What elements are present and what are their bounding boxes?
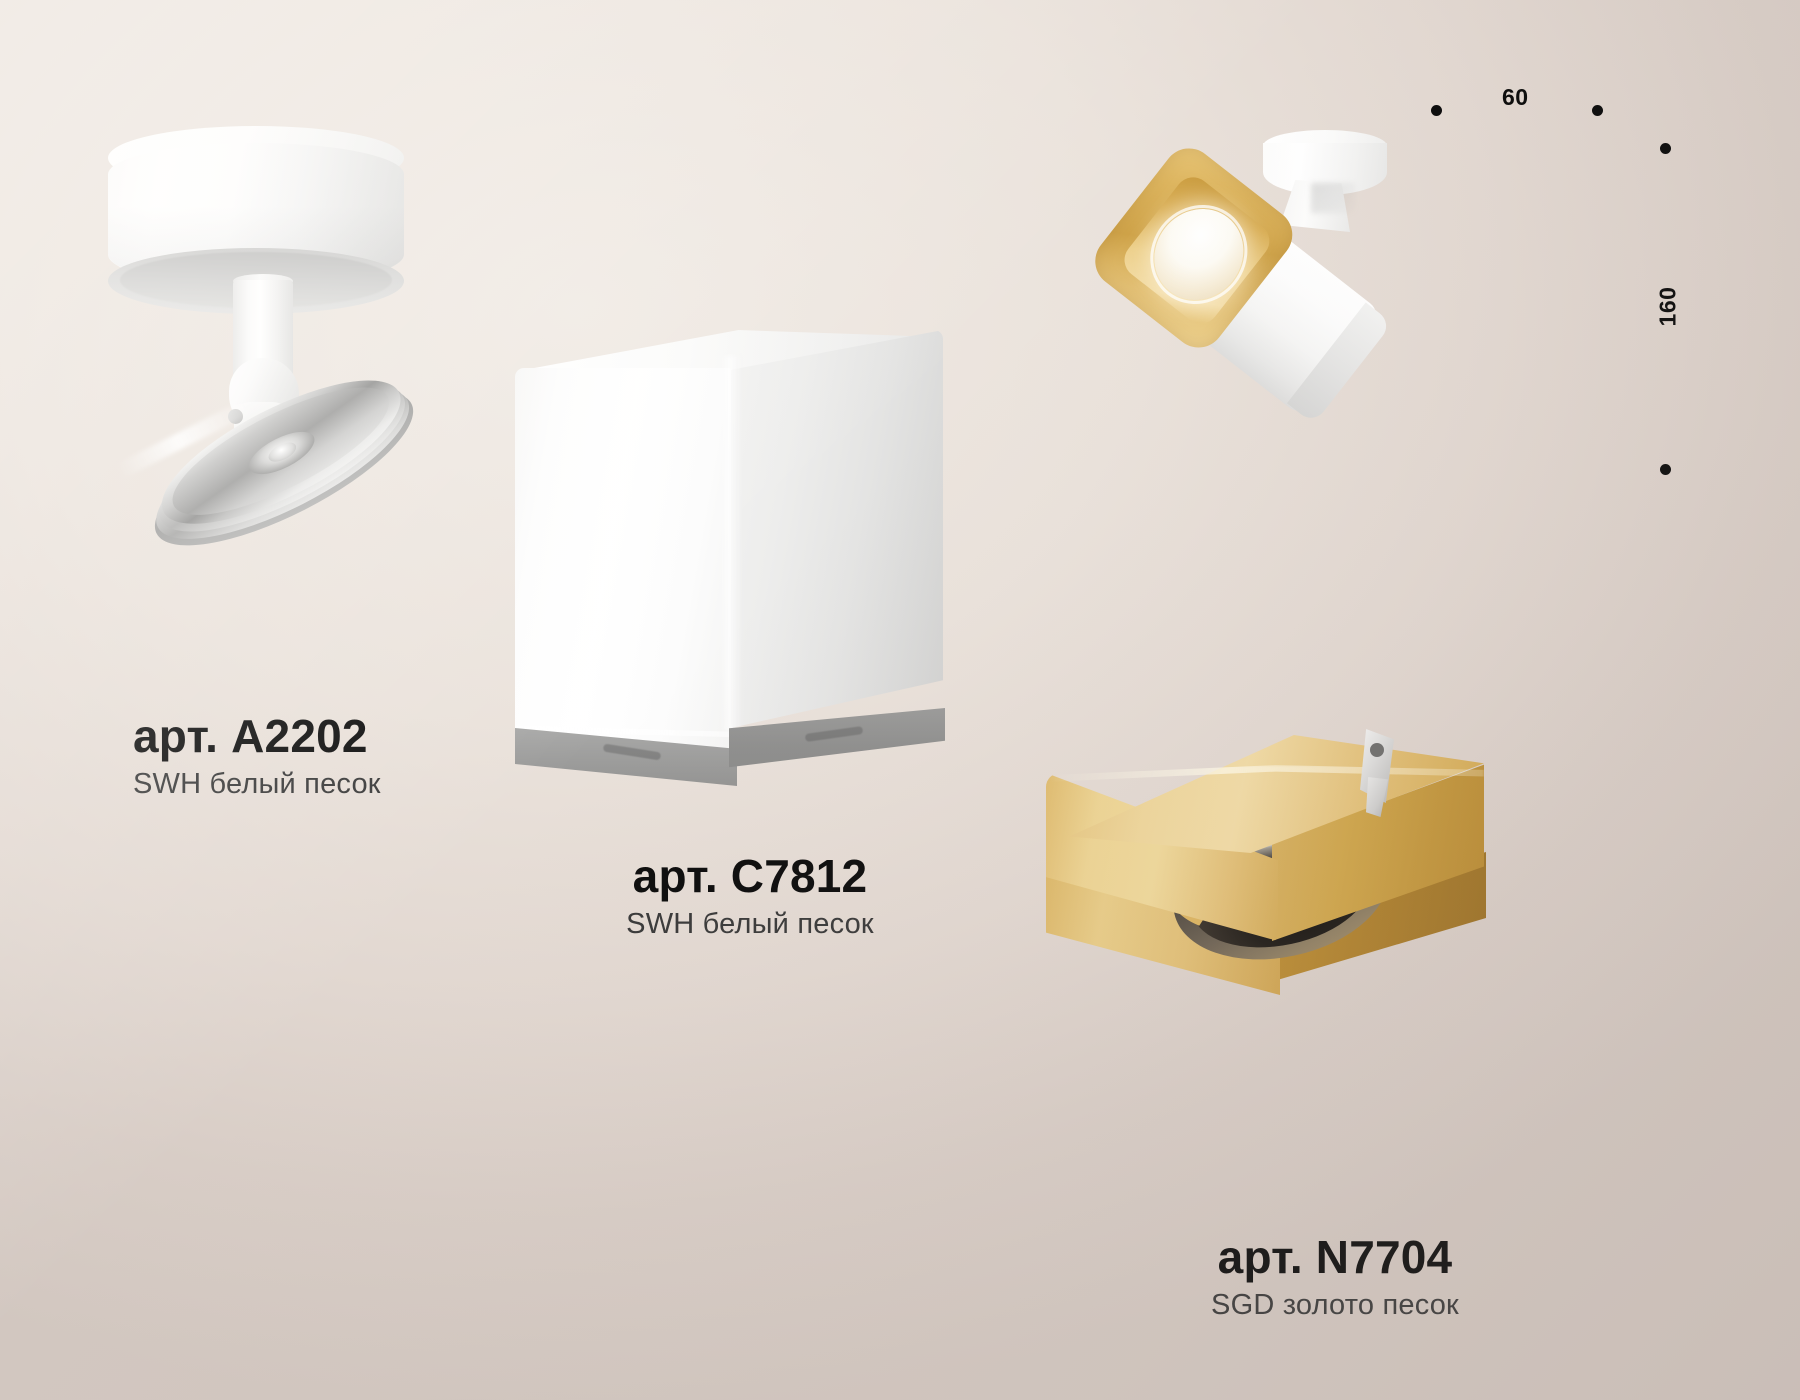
product-label-c7812: арт. C7812 SWH белый песок: [600, 852, 900, 943]
dimension-dot-width-left: [1431, 105, 1442, 116]
product-label-a2202: арт. A2202 SWH белый песок: [133, 712, 381, 803]
dimension-dot-width-right: [1592, 105, 1603, 116]
dimension-dot-height-bottom: [1660, 464, 1671, 475]
article-number-c7812: арт. C7812: [600, 852, 900, 900]
product-diagram-canvas: арт. A2202 SWH белый песок арт. C7812 SW…: [0, 0, 1800, 1400]
dimension-dot-height-top: [1660, 143, 1671, 154]
dimension-value-width: 60: [1502, 84, 1529, 111]
mounting-clip-hole: [1370, 743, 1384, 757]
product-image-spotlight-assembly: [1075, 125, 1435, 485]
product-image-c7812: [515, 330, 975, 800]
dimension-value-height: 160: [1654, 287, 1681, 327]
product-image-n7704: [1040, 715, 1510, 1015]
product-image-a2202: [100, 120, 500, 570]
cube-front-face: [515, 368, 733, 753]
article-number-a2202: арт. A2202: [133, 712, 381, 760]
spot-neck-shading: [1311, 183, 1355, 213]
cube-right-face: [731, 330, 943, 728]
finish-name-c7812: SWH белый песок: [600, 906, 900, 942]
product-label-n7704: арт. N7704 SGD золото песок: [1135, 1233, 1535, 1324]
cube-vertical-edge: [721, 356, 741, 731]
chrome-reflector-assembly: [115, 329, 473, 643]
article-number-n7704: арт. N7704: [1135, 1233, 1535, 1281]
finish-name-n7704: SGD золото песок: [1135, 1287, 1535, 1323]
finish-name-a2202: SWH белый песок: [133, 766, 381, 802]
